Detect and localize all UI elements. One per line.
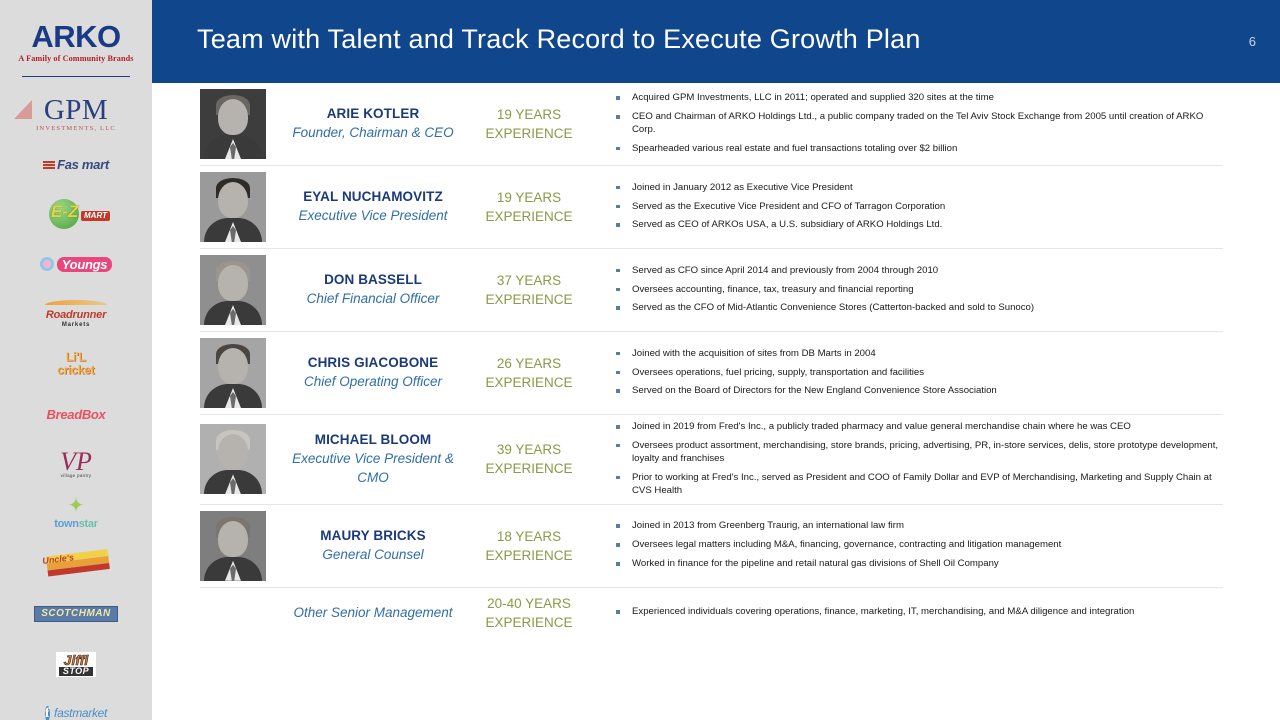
name-cell: DON BASSELLChief Financial Officer: [282, 272, 468, 308]
town-star-logo: ✦ townstar: [0, 490, 152, 538]
bullet-item: Joined in January 2012 as Executive Vice…: [612, 182, 1219, 195]
name-cell: Other Senior Management: [282, 603, 468, 622]
executive-name: ARIE KOTLER: [282, 106, 464, 123]
bullet-list: Joined in 2013 from Greenberg Traurig, a…: [612, 520, 1219, 571]
fastmarket-logo: f fastmarket: [0, 690, 152, 720]
fas-mart-bars-icon: [43, 161, 55, 170]
executive-row: ARIE KOTLERFounder, Chairman & CEO19 YEA…: [200, 83, 1223, 166]
page-title: Team with Talent and Track Record to Exe…: [197, 24, 921, 55]
years-label: EXPERIENCE: [468, 613, 590, 632]
years-value: 19 YEARS: [468, 188, 590, 207]
executive-title: Founder, Chairman & CEO: [282, 123, 464, 142]
youngs-logo: Youngs: [0, 240, 152, 288]
photo-cell: [200, 424, 282, 494]
bullets-cell: Joined with the acquisition of sites fro…: [590, 348, 1223, 399]
bullet-list: Joined in 2019 from Fred's Inc., a publi…: [612, 421, 1219, 498]
years-value: 39 YEARS: [468, 440, 590, 459]
years-cell: 18 YEARSEXPERIENCE: [468, 527, 590, 565]
executive-name: DON BASSELL: [282, 272, 464, 289]
years-cell: 37 YEARSEXPERIENCE: [468, 271, 590, 309]
years-value: 37 YEARS: [468, 271, 590, 290]
executive-title: Executive Vice President & CMO: [282, 449, 464, 487]
years-label: EXPERIENCE: [468, 207, 590, 226]
photo-head: [218, 348, 248, 384]
executive-row: Other Senior Management20-40 YEARSEXPERI…: [200, 588, 1223, 638]
bullet-item: Oversees accounting, finance, tax, treas…: [612, 284, 1219, 297]
years-label: EXPERIENCE: [468, 373, 590, 392]
headshot-maury-bricks: [200, 511, 266, 581]
executive-title: Chief Operating Officer: [282, 372, 464, 391]
gpm-investments-logo: GPM INVESTMENTS, LLC: [0, 90, 152, 138]
headshot-eyal-nuchamovitz: [200, 172, 266, 242]
fastmarket-sublabel: market: [72, 706, 107, 720]
years-value: 19 YEARS: [468, 105, 590, 124]
executive-row: EYAL NUCHAMOVITZExecutive Vice President…: [200, 166, 1223, 249]
brand-sidebar: ARKO A Family of Community Brands GPM IN…: [0, 0, 152, 720]
headshot-chris-giacobone: [200, 338, 266, 408]
scotchman-label: SCOTCHMAN: [34, 606, 118, 622]
roadrunner-sublabel: Markets: [45, 322, 107, 328]
bullet-list: Experienced individuals covering operati…: [612, 606, 1219, 619]
gpm-label: GPM: [44, 94, 108, 126]
village-pantry-mark-icon: VP: [60, 447, 92, 476]
lil-cricket-sublabel: cricket: [57, 364, 94, 377]
executive-row: DON BASSELLChief Financial Officer37 YEA…: [200, 249, 1223, 332]
bullet-item: Acquired GPM Investments, LLC in 2011; o…: [612, 92, 1219, 105]
years-label: EXPERIENCE: [468, 459, 590, 478]
gpm-triangle-icon: [14, 100, 32, 119]
bullet-item: Oversees operations, fuel pricing, suppl…: [612, 367, 1219, 380]
town-star-sublabel: star: [79, 518, 98, 530]
years-value: 20-40 YEARS: [468, 594, 590, 613]
bullets-cell: Joined in 2013 from Greenberg Traurig, a…: [590, 520, 1223, 571]
bullet-item: Experienced individuals covering operati…: [612, 606, 1219, 619]
fas-mart-logo: Fas mart: [0, 140, 152, 188]
arko-logo: ARKO A Family of Community Brands: [0, 0, 152, 83]
name-cell: MICHAEL BLOOMExecutive Vice President & …: [282, 432, 468, 487]
executive-name: MICHAEL BLOOM: [282, 432, 464, 449]
bullet-list: Joined with the acquisition of sites fro…: [612, 348, 1219, 399]
executive-name: CHRIS GIACOBONE: [282, 355, 464, 372]
fastmarket-circle-icon: f: [45, 706, 50, 720]
executive-name: MAURY BRICKS: [282, 528, 464, 545]
roadrunner-markets-logo: Roadrunner Markets: [0, 290, 152, 338]
bullet-list: Acquired GPM Investments, LLC in 2011; o…: [612, 92, 1219, 156]
lil-cricket-logo: Li'L cricket: [0, 340, 152, 388]
bullet-item: Oversees product assortment, merchandisi…: [612, 440, 1219, 466]
executive-list: ARIE KOTLERFounder, Chairman & CEO19 YEA…: [152, 83, 1280, 720]
photo-head: [218, 182, 248, 218]
town-star-label: town: [54, 518, 78, 530]
bullets-cell: Served as CFO since April 2014 and previ…: [590, 265, 1223, 316]
slide-header: Team with Talent and Track Record to Exe…: [152, 0, 1280, 83]
jiffi-label: Jiffi: [59, 653, 93, 667]
ez-mart-label: E-Z: [51, 203, 78, 220]
breadbox-label: BreadBox: [46, 408, 105, 421]
years-label: EXPERIENCE: [468, 290, 590, 309]
bullets-cell: Joined in 2019 from Fred's Inc., a publi…: [590, 421, 1223, 498]
photo-head: [218, 265, 248, 301]
bullets-cell: Joined in January 2012 as Executive Vice…: [590, 182, 1223, 233]
arko-wordmark: ARKO: [31, 21, 120, 52]
years-cell: 19 YEARSEXPERIENCE: [468, 188, 590, 226]
bullet-item: Prior to working at Fred's Inc., served …: [612, 472, 1219, 498]
bullet-item: Served as the CFO of Mid-Atlantic Conven…: [612, 302, 1219, 315]
executive-row: CHRIS GIACOBONEChief Operating Officer26…: [200, 332, 1223, 415]
name-cell: MAURY BRICKSGeneral Counsel: [282, 528, 468, 564]
bullet-item: Joined in 2013 from Greenberg Traurig, a…: [612, 520, 1219, 533]
youngs-label: Youngs: [57, 257, 112, 272]
executive-title: Other Senior Management: [282, 603, 464, 622]
slide: ARKO A Family of Community Brands GPM IN…: [0, 0, 1280, 720]
years-cell: 26 YEARSEXPERIENCE: [468, 354, 590, 392]
bullet-item: Served as the Executive Vice President a…: [612, 201, 1219, 214]
fas-mart-label: Fas mart: [57, 157, 109, 172]
village-pantry-sublabel: village pantry: [60, 474, 92, 479]
arko-logo-rule: [22, 76, 130, 77]
bullet-item: Served on the Board of Directors for the…: [612, 385, 1219, 398]
headshot-michael-bloom: [200, 424, 266, 494]
bullet-item: Worked in finance for the pipeline and r…: [612, 558, 1219, 571]
bullet-item: Joined with the acquisition of sites fro…: [612, 348, 1219, 361]
years-value: 18 YEARS: [468, 527, 590, 546]
bullets-cell: Acquired GPM Investments, LLC in 2011; o…: [590, 92, 1223, 156]
photo-cell: [200, 255, 282, 325]
roadrunner-label: Roadrunner: [46, 309, 106, 321]
photo-cell: [200, 89, 282, 159]
village-pantry-logo: VP village pantry: [0, 440, 152, 488]
ez-mart-logo: E-Z MART: [0, 190, 152, 238]
photo-head: [218, 99, 248, 135]
brand-logo-list: GPM INVESTMENTS, LLC Fas mart E-Z MART: [0, 90, 152, 720]
executive-row: MAURY BRICKSGeneral Counsel18 YEARSEXPER…: [200, 505, 1223, 588]
breadbox-logo: BreadBox: [0, 390, 152, 438]
jiffi-sublabel: STOP: [59, 667, 93, 676]
executive-title: Chief Financial Officer: [282, 289, 464, 308]
lil-cricket-label: Li'L: [57, 351, 94, 364]
headshot-don-bassell: [200, 255, 266, 325]
page-number: 6: [1249, 34, 1256, 49]
youngs-flower-icon: [40, 257, 54, 271]
bullet-list: Served as CFO since April 2014 and previ…: [612, 265, 1219, 316]
photo-head: [218, 434, 248, 470]
photo-cell: [200, 172, 282, 242]
bullet-item: Served as CFO since April 2014 and previ…: [612, 265, 1219, 278]
executive-title: General Counsel: [282, 545, 464, 564]
bullet-item: Served as CEO of ARKOs USA, a U.S. subsi…: [612, 219, 1219, 232]
bullet-item: Joined in 2019 from Fred's Inc., a publi…: [612, 421, 1219, 434]
bullet-list: Joined in January 2012 as Executive Vice…: [612, 182, 1219, 233]
bullet-item: Spearheaded various real estate and fuel…: [612, 143, 1219, 156]
arko-tagline: A Family of Community Brands: [18, 54, 133, 63]
name-cell: CHRIS GIACOBONEChief Operating Officer: [282, 355, 468, 391]
ez-mart-sublabel: MART: [81, 211, 110, 221]
years-value: 26 YEARS: [468, 354, 590, 373]
gpm-sublabel: INVESTMENTS, LLC: [36, 126, 116, 133]
photo-cell: [200, 338, 282, 408]
bullet-item: Oversees legal matters including M&A, fi…: [612, 539, 1219, 552]
executive-row: MICHAEL BLOOMExecutive Vice President & …: [200, 415, 1223, 505]
executive-title: Executive Vice President: [282, 206, 464, 225]
years-label: EXPERIENCE: [468, 124, 590, 143]
executive-name: EYAL NUCHAMOVITZ: [282, 189, 464, 206]
fastmarket-label: fast: [54, 706, 72, 720]
photo-cell: [200, 511, 282, 581]
roadrunner-swoosh-icon: [45, 300, 107, 305]
town-star-star-icon: ✦: [54, 498, 97, 515]
years-label: EXPERIENCE: [468, 546, 590, 565]
years-cell: 20-40 YEARSEXPERIENCE: [468, 594, 590, 632]
bullets-cell: Experienced individuals covering operati…: [590, 606, 1223, 619]
name-cell: EYAL NUCHAMOVITZExecutive Vice President: [282, 189, 468, 225]
jiffi-stop-logo: Jiffi STOP: [0, 640, 152, 688]
years-cell: 19 YEARSEXPERIENCE: [468, 105, 590, 143]
name-cell: ARIE KOTLERFounder, Chairman & CEO: [282, 106, 468, 142]
scotchman-logo: SCOTCHMAN: [0, 590, 152, 638]
photo-head: [218, 521, 248, 557]
uncle-petes-logo: Uncle's: [0, 540, 152, 588]
years-cell: 39 YEARSEXPERIENCE: [468, 440, 590, 478]
headshot-arie-kotler: [200, 89, 266, 159]
bullet-item: CEO and Chairman of ARKO Holdings Ltd., …: [612, 111, 1219, 137]
